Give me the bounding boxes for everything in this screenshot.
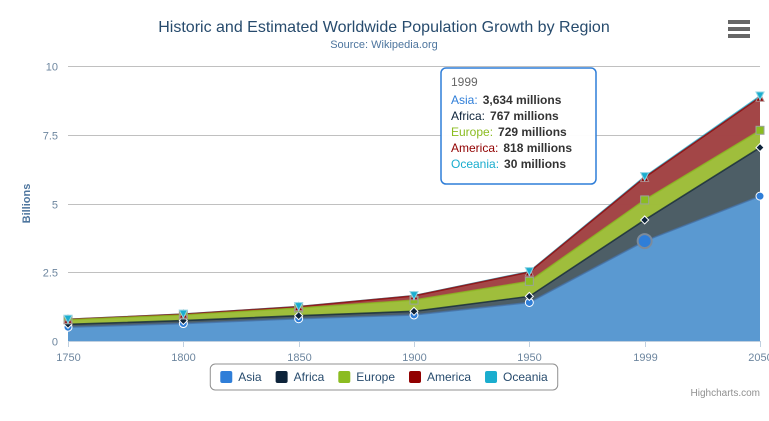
tooltip-series-value: 729 millions — [498, 125, 567, 139]
legend-label: Europe — [356, 370, 395, 384]
tooltip-header: 1999 — [451, 75, 478, 89]
point-asia-1999[interactable] — [638, 234, 652, 248]
tooltip-series-value: 767 millions — [490, 109, 559, 123]
highcharts-container[interactable]: Historic and Estimated Worldwide Populat… — [0, 0, 769, 416]
credits-label: Highcharts.com — [691, 388, 760, 399]
legend-swatch-africa — [276, 371, 288, 383]
y-axis-title: Billions — [21, 184, 33, 224]
y-axis-tick-label: 5 — [52, 200, 58, 212]
chart-subtitle: Source: Wikipedia.org — [330, 39, 438, 51]
y-axis-tick-label: 10 — [46, 62, 58, 74]
tooltip-series-value: 30 millions — [504, 157, 566, 171]
legend-label: America — [427, 370, 471, 384]
legend-item-europe[interactable]: Europe — [338, 370, 395, 384]
legend-swatch-america — [409, 371, 421, 383]
page-title: Historic and Estimated Worldwide Populat… — [158, 19, 609, 36]
x-axis-tick-label: 1999 — [633, 352, 657, 364]
legend-item-america[interactable]: America — [409, 370, 471, 384]
point-europe-1999[interactable] — [641, 196, 649, 204]
x-axis-tick-label: 1750 — [56, 352, 80, 364]
tooltip-series-name: Asia: — [451, 93, 478, 107]
y-axis-tick-label: 2.5 — [43, 268, 58, 280]
tooltip-series-value: 818 millions — [503, 141, 572, 155]
y-axis-tick-label: 7.5 — [43, 131, 58, 143]
tooltip-series-name: Oceania: — [451, 157, 499, 171]
tooltip-series-name: America: — [451, 141, 498, 155]
legend-swatch-oceania — [485, 371, 497, 383]
point-asia-2050[interactable] — [756, 192, 764, 200]
tooltip-series-name: Europe: — [451, 125, 493, 139]
tooltip: 1999Asia:3,634 millionsAfrica:767 millio… — [441, 68, 596, 184]
legend-label: Africa — [294, 370, 325, 384]
chart-legend[interactable]: AsiaAfricaEuropeAmericaOceania — [210, 364, 557, 390]
point-europe-2050[interactable] — [756, 126, 764, 134]
legend-label: Oceania — [503, 370, 548, 384]
legend-swatch-asia — [220, 371, 232, 383]
x-axis-tick-label: 1850 — [287, 352, 311, 364]
hamburger-menu-icon[interactable] — [728, 20, 750, 38]
x-axis-tick-label: 1900 — [402, 352, 426, 364]
legend-item-oceania[interactable]: Oceania — [485, 370, 548, 384]
legend-label: Asia — [238, 370, 262, 384]
legend-item-africa[interactable]: Africa — [276, 370, 325, 384]
legend-item-asia[interactable]: Asia — [220, 370, 262, 384]
legend-swatch-europe — [338, 371, 350, 383]
x-axis-tick-label: 1800 — [171, 352, 195, 364]
y-axis-tick-label: 0 — [52, 337, 58, 349]
tooltip-series-name: Africa: — [451, 109, 485, 123]
tooltip-series-value: 3,634 millions — [483, 93, 562, 107]
x-axis-tick-label: 1950 — [517, 352, 541, 364]
point-europe-1950[interactable] — [525, 277, 533, 285]
x-axis-tick-label: 2050 — [748, 352, 769, 364]
